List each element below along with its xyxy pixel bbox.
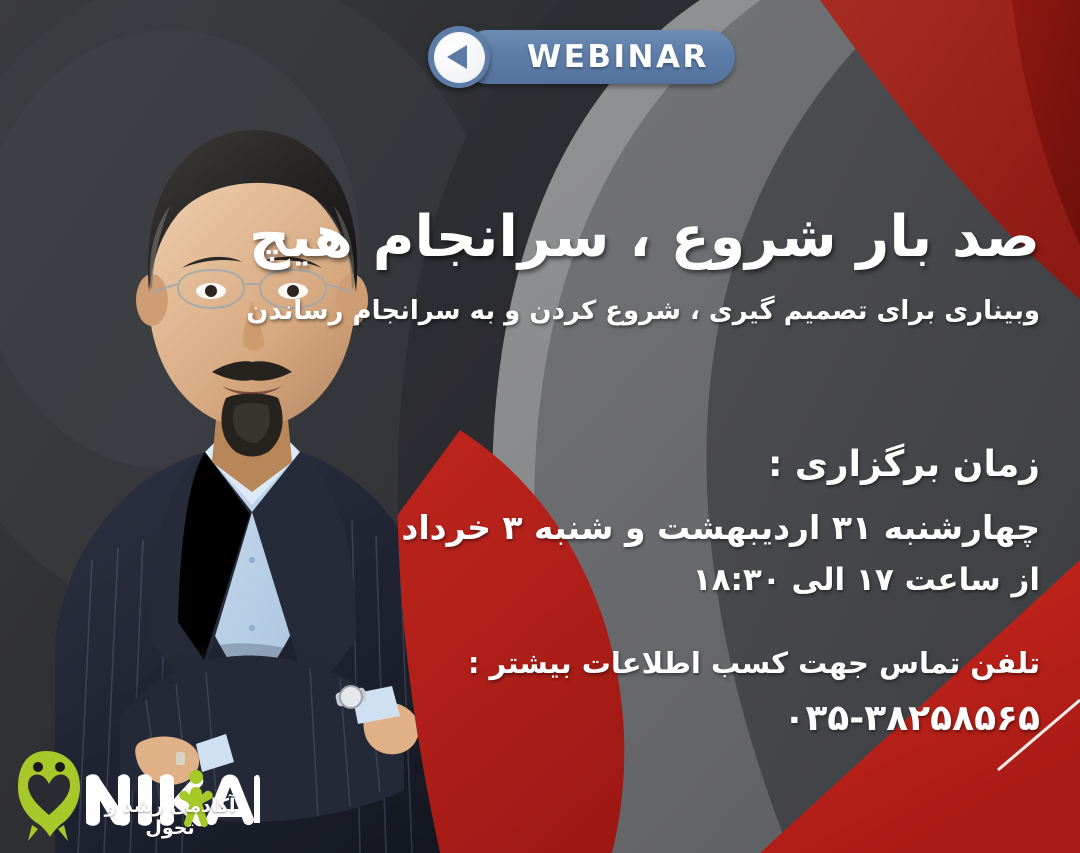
schedule-hours: از ساعت ۱۷ الی ۱۸:۳۰ bbox=[693, 562, 1040, 598]
speaker-photo bbox=[0, 0, 560, 853]
webinar-badge-label: WEBINAR bbox=[527, 39, 709, 75]
contact-label: تلفن تماس جهت کسب اطلاعات بیشتر : bbox=[468, 646, 1040, 680]
speaker-portrait-illustration bbox=[0, 0, 560, 853]
play-icon bbox=[447, 45, 467, 69]
webinar-poster: WEBINAR صد بار شروع ، سرانجام هیچ وبینار… bbox=[0, 0, 1080, 853]
webinar-badge-pill: WEBINAR bbox=[461, 30, 735, 84]
play-button-inner bbox=[434, 32, 485, 83]
brand-tagline: آکادمی رشد و تحول bbox=[82, 795, 258, 839]
brand-logo[interactable]: آکادمی رشد و تحول bbox=[10, 737, 260, 845]
headline: صد بار شروع ، سرانجام هیچ bbox=[249, 204, 1040, 271]
schedule-label: زمان برگزاری : bbox=[768, 444, 1040, 485]
subheadline: وبیناری برای تصمیم گیری ، شروع کردن و به… bbox=[246, 296, 1040, 326]
green-owl-mascot-icon bbox=[18, 751, 80, 841]
play-button[interactable] bbox=[428, 26, 490, 88]
contact-phone[interactable]: ۰۳۵-۳۸۲۵۸۵۶۵ bbox=[783, 698, 1040, 739]
schedule-date: چهارشنبه ۳۱ اردیبهشت و شنبه ۳ خرداد bbox=[401, 508, 1040, 547]
